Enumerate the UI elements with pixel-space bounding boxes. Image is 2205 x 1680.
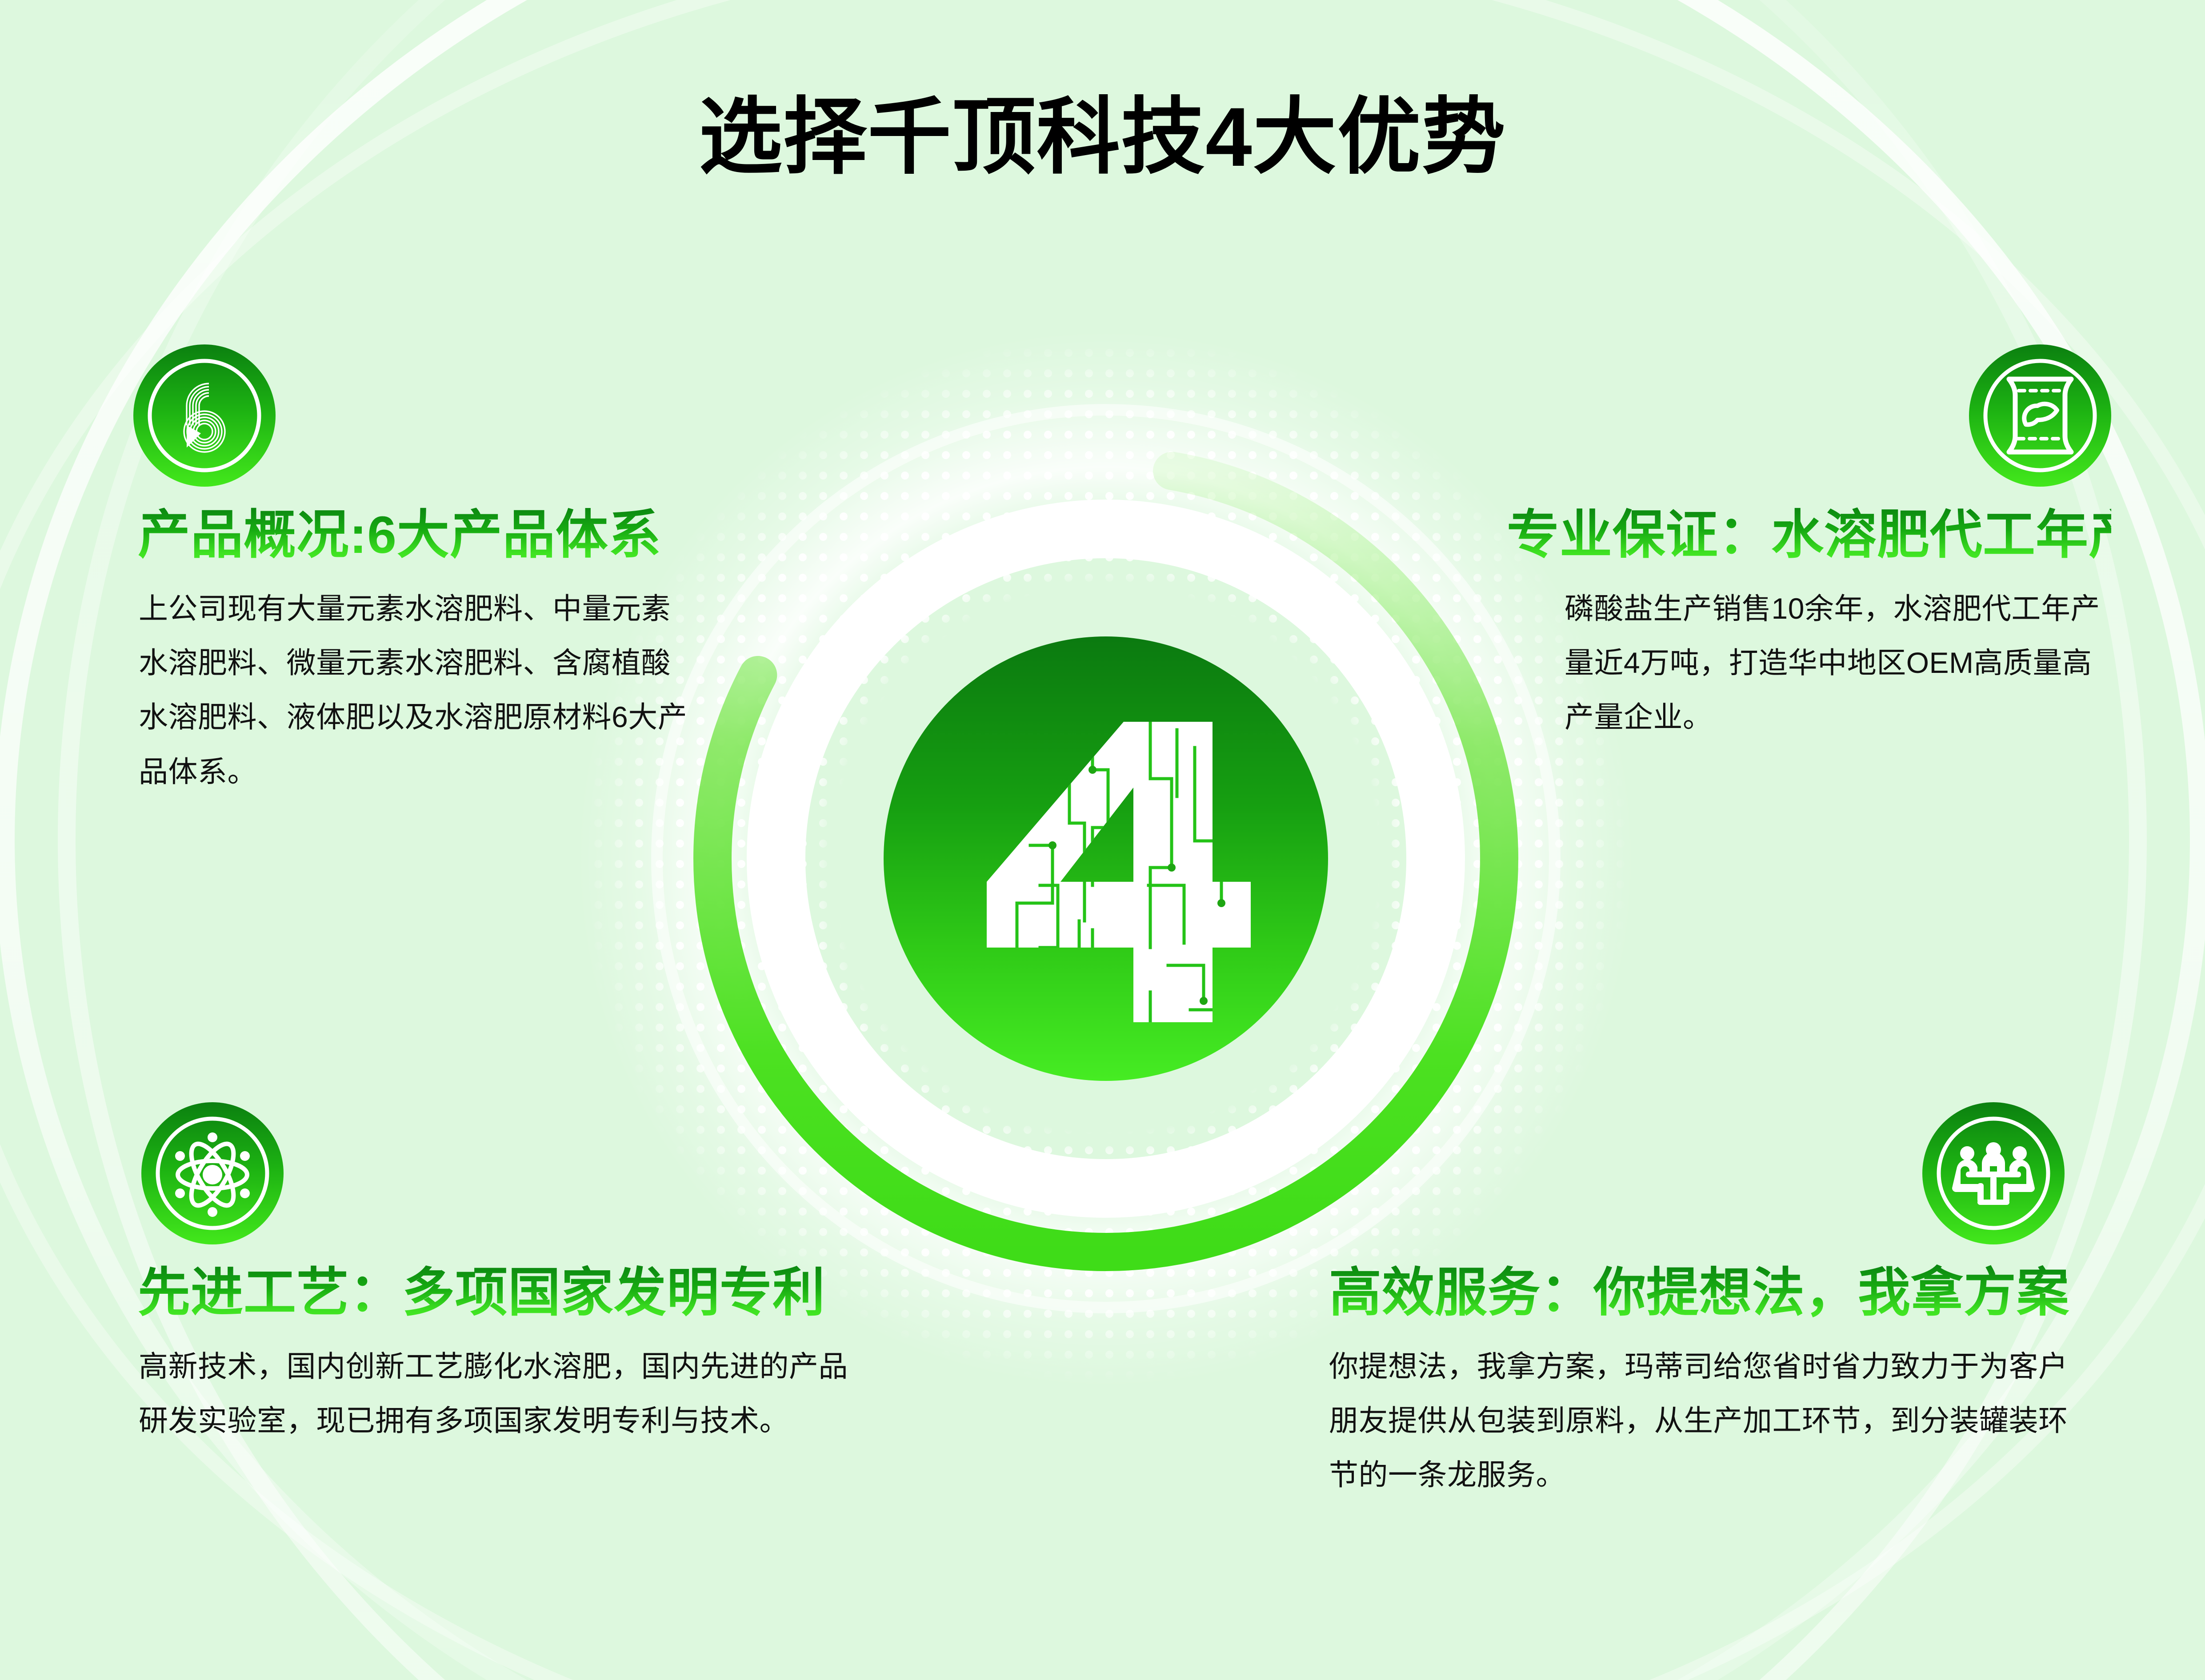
page-title: 选择千顶科技4大优势 (0, 91, 2205, 183)
infographic-canvas: 选择千顶科技4大优势 (0, 0, 2205, 1680)
feature-block-bottom-right: 高效服务：你提想法，我拿方案 你提想法，我拿方案，玛蒂司给您省时省力致力于为客户… (1329, 1102, 2111, 1502)
meeting-table-icon (1922, 1102, 2065, 1244)
section-body: 你提想法，我拿方案，玛蒂司给您省时省力致力于为客户朋友提供从包装到原料，从生产加… (1329, 1339, 2093, 1502)
section-heading: 专业保证：水溶肥代工年产量近4万吨 (1507, 504, 2111, 566)
number-six-rings-icon (133, 344, 276, 487)
section-body: 高新技术，国内创新工艺膨化水溶肥，国内先进的产品研发实验室，现已拥有多项国家发明… (139, 1339, 850, 1448)
center-disc (884, 636, 1328, 1081)
fertilizer-bag-icon (1969, 344, 2111, 487)
feature-block-top-right: 专业保证：水溶肥代工年产量近4万吨 磷酸盐生产销售10余年，水溶肥代工年产量近4… (1507, 344, 2111, 744)
feature-block-bottom-left: 先进工艺：多项国家发明专利 高新技术，国内创新工艺膨化水溶肥，国内先进的产品研发… (133, 1102, 862, 1448)
tech-circuit-number-4-icon (884, 636, 1328, 1081)
section-heading: 先进工艺：多项国家发明专利 (138, 1262, 862, 1324)
section-body: 磷酸盐生产销售10余年，水溶肥代工年产量近4万吨，打造华中地区OEM高质量高产量… (1565, 581, 2111, 744)
center-emblem (884, 636, 1328, 1081)
feature-block-top-left: 产品概况:6大产品体系 上公司现有大量元素水溶肥料、中量元素水溶肥料、微量元素水… (133, 344, 724, 799)
section-heading: 高效服务：你提想法，我拿方案 (1329, 1262, 2111, 1324)
section-heading: 产品概况:6大产品体系 (138, 504, 724, 566)
section-body: 上公司现有大量元素水溶肥料、中量元素水溶肥料、微量元素水溶肥料、含腐植酸水溶肥料… (139, 581, 694, 798)
atom-icon (141, 1102, 284, 1244)
